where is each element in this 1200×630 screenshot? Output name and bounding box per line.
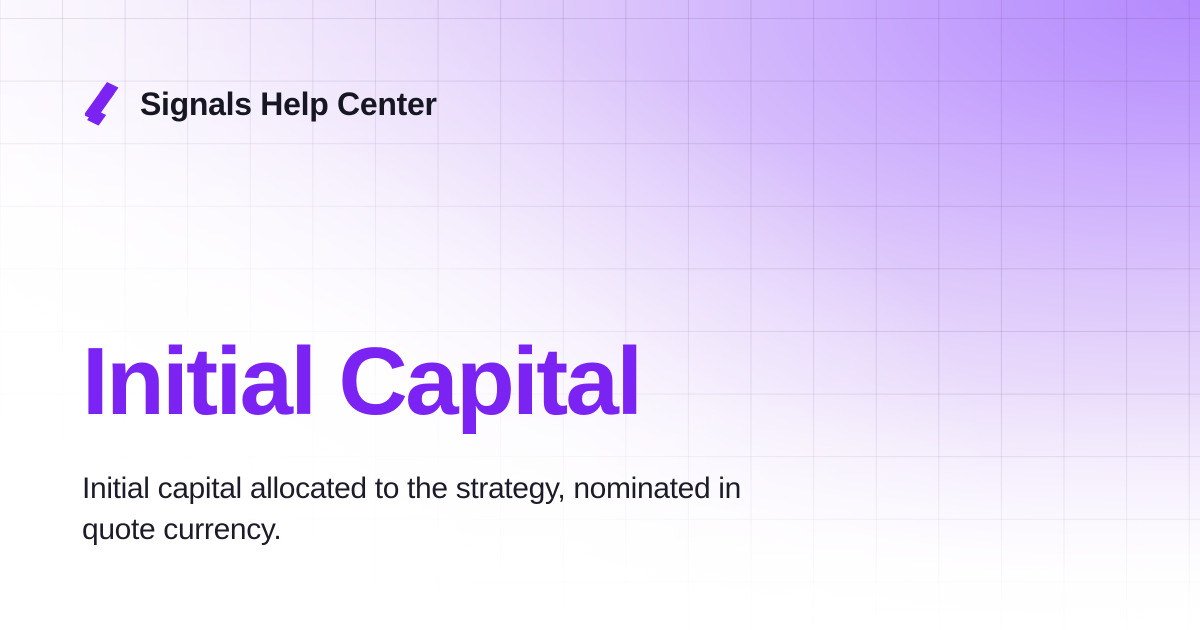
brand-name-label: Signals Help Center (140, 88, 437, 120)
page-description: Initial capital allocated to the strateg… (82, 468, 762, 550)
brand-header[interactable]: Signals Help Center (85, 78, 437, 130)
signals-slash-logo-icon (85, 82, 121, 126)
card-content: Signals Help Center Initial Capital Init… (0, 0, 1200, 630)
og-card: Signals Help Center Initial Capital Init… (0, 0, 1200, 630)
page-title: Initial Capital (82, 332, 640, 433)
